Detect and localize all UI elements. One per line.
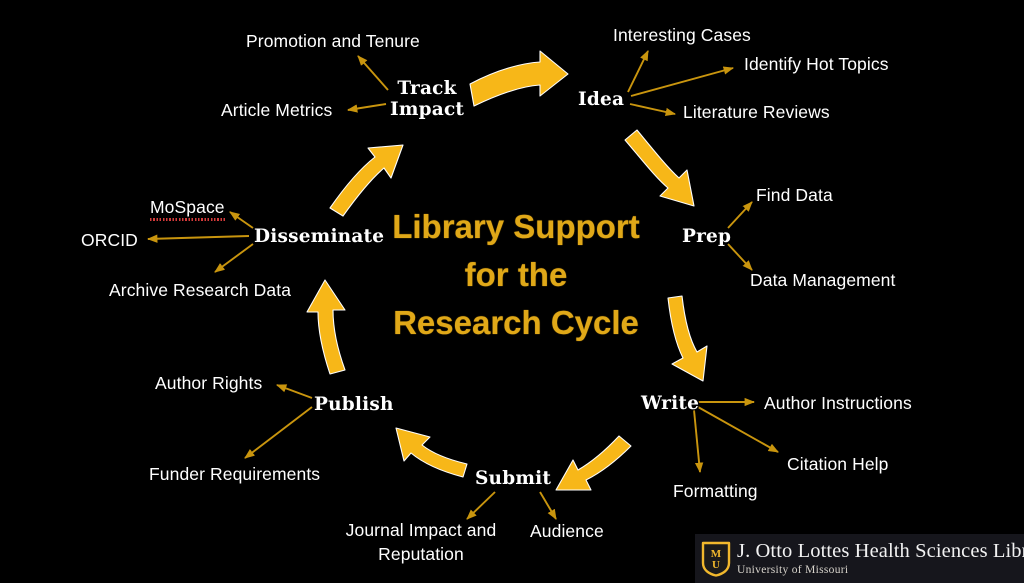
journal-impact-line2: Reputation [378, 544, 464, 564]
subtopic-article-metrics: Article Metrics [221, 100, 332, 121]
spoke-prep-to-finddata [728, 202, 752, 228]
subtopic-promotion-and-tenure: Promotion and Tenure [246, 31, 420, 52]
arrow-submit-to-publish [396, 428, 467, 477]
mu-shield-icon: M U [701, 541, 731, 577]
stage-label-track-impact-line2: Impact [390, 99, 464, 120]
svg-text:U: U [712, 559, 720, 571]
subtopic-archive-research-data: Archive Research Data [109, 280, 291, 301]
spoke-track-to-promotion [358, 56, 388, 90]
stage-label-track-impact: Track Impact [390, 79, 464, 120]
subtopic-find-data: Find Data [756, 185, 833, 206]
spoke-publish-to-funder [245, 407, 312, 458]
research-cycle-diagram: Library Support for the Research Cycle T… [0, 0, 1024, 583]
spoke-submit-to-audience [540, 492, 556, 519]
spoke-track-to-article [348, 104, 386, 110]
arrow-prep-to-write [668, 296, 707, 381]
subtopic-mospace: MoSpace [150, 197, 225, 218]
mospace-text: MoSpace [150, 197, 225, 218]
stage-label-publish: Publish [314, 394, 394, 416]
subtopic-author-rights: Author Rights [155, 373, 262, 394]
spoke-write-to-formatting [694, 410, 700, 472]
spoke-idea-to-interesting [628, 51, 648, 92]
spoke-dissem-to-archive [215, 244, 253, 272]
spoke-idea-to-litreviews [630, 104, 675, 114]
title-line-2: for the [360, 251, 672, 299]
spoke-dissem-to-orcid [148, 236, 249, 239]
spoke-publish-to-rights [277, 385, 312, 398]
spoke-write-to-citation [698, 407, 778, 452]
stage-label-idea: Idea [578, 89, 624, 111]
spoke-prep-to-datamgmt [728, 244, 752, 270]
arrow-idea-to-prep [625, 130, 694, 206]
subtopic-citation-help: Citation Help [787, 454, 889, 475]
arrow-publish-to-disseminate [307, 280, 345, 374]
stage-label-submit: Submit [475, 468, 551, 490]
title-line-3: Research Cycle [360, 299, 672, 347]
subtopic-author-instructions: Author Instructions [764, 393, 912, 414]
arrow-write-to-submit [556, 436, 631, 490]
title-line-1: Library Support [360, 203, 672, 251]
stage-label-prep: Prep [682, 226, 731, 248]
logo-text-block: J. Otto Lottes Health Sciences Library U… [737, 541, 1024, 575]
journal-impact-line1: Journal Impact and [346, 520, 497, 540]
logo-main-text: J. Otto Lottes Health Sciences Library [737, 541, 1024, 562]
stage-label-track-impact-line1: Track [397, 78, 456, 99]
spoke-dissem-to-mospace [230, 212, 253, 228]
subtopic-identify-hot-topics: Identify Hot Topics [744, 54, 889, 75]
stage-label-disseminate: Disseminate [254, 226, 384, 248]
subtopic-orcid: ORCID [81, 230, 138, 251]
subtopic-funder-requirements: Funder Requirements [149, 464, 320, 485]
subtopic-data-management: Data Management [750, 270, 895, 291]
subtopic-audience: Audience [530, 521, 604, 542]
stage-label-write: Write [641, 393, 699, 415]
spoke-idea-to-hottopics [631, 68, 733, 96]
library-logo: M U J. Otto Lottes Health Sciences Libra… [695, 534, 1024, 583]
arrow-track-to-idea [470, 51, 568, 106]
spoke-submit-to-journal [467, 492, 495, 519]
subtopic-journal-impact-and-reputation: Journal Impact and Reputation [337, 519, 505, 566]
subtopic-interesting-cases: Interesting Cases [613, 25, 751, 46]
logo-sub-text: University of Missouri [737, 564, 1024, 576]
subtopic-literature-reviews: Literature Reviews [683, 102, 830, 123]
subtopic-formatting: Formatting [673, 481, 758, 502]
page-title: Library Support for the Research Cycle [360, 203, 672, 348]
